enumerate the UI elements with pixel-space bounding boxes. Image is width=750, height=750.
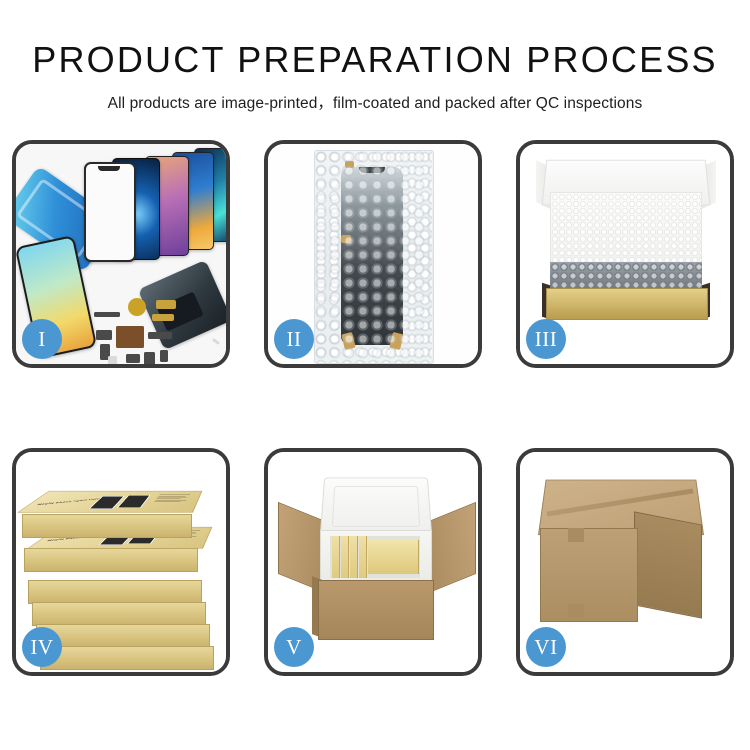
styrofoam-lid-icon (320, 477, 432, 536)
product-preparation-process-page: PRODUCT PREPARATION PROCESS All products… (0, 0, 750, 750)
retail-box-spec-lines-1 (154, 495, 192, 503)
packed-box-2 (341, 536, 349, 578)
part-sim-tray-icon (108, 356, 117, 364)
page-header: PRODUCT PREPARATION PROCESS All products… (0, 0, 750, 113)
step-panel-5: V (264, 448, 482, 676)
packed-box-3 (350, 536, 358, 578)
retail-box-layer-4 (36, 624, 210, 648)
adhesive-tab-top-icon (345, 161, 354, 168)
step-panel-1: I (12, 140, 230, 368)
page-title: PRODUCT PREPARATION PROCESS (0, 0, 750, 78)
retail-box-layer-6 (28, 580, 202, 604)
step-badge-6: VI (526, 627, 566, 667)
part-flex-cable-2-icon (152, 314, 174, 321)
retail-box-layer-2-body (24, 548, 198, 572)
part-ribbon-icon (148, 332, 172, 339)
foam-sheet-icon (550, 192, 702, 266)
packed-box-4 (359, 536, 367, 578)
step-badge-2: II (274, 319, 314, 359)
adhesive-tab-mid-icon (341, 235, 351, 243)
screen-glass-panel-icon (84, 162, 136, 262)
step-badge-5: V (274, 627, 314, 667)
flex-connector-right-icon (389, 332, 404, 350)
retail-box-layer-5 (32, 602, 206, 626)
step-badge-1: I (22, 319, 62, 359)
wrapped-screen-icon (341, 167, 403, 345)
step-panel-6: VI (516, 448, 734, 676)
part-camera-module-icon (96, 330, 112, 340)
carton-front-face-icon (540, 528, 638, 622)
styrofoam-cavity-icon (330, 536, 420, 578)
step-badge-4: IV (22, 627, 62, 667)
part-logic-board-icon (116, 326, 144, 348)
retail-box-layer-1-top: Mobile Phone Spare Parts (17, 491, 202, 513)
carton-tape-top-icon (568, 528, 584, 542)
carton-body-icon (318, 580, 434, 640)
retail-box-layer-1-body (22, 514, 192, 538)
step-badge-3: III (526, 319, 566, 359)
part-button-icon (126, 354, 140, 363)
carton-tape-bottom-icon (568, 604, 584, 618)
part-speaker-icon (94, 312, 120, 317)
part-flex-cable-icon (156, 300, 176, 309)
kraft-box-front-icon (546, 288, 708, 320)
bubble-wrap-bag-icon (314, 150, 434, 364)
step-panel-3: III (516, 140, 734, 368)
part-screw-set-icon (160, 350, 168, 362)
carton-side-face-icon (634, 511, 702, 618)
step-panel-2: II (264, 140, 482, 368)
page-subtitle: All products are image-printed，film-coat… (0, 78, 750, 113)
packed-box-group-right (368, 540, 419, 574)
retail-box-layer-3 (40, 646, 214, 670)
part-mic-icon (144, 352, 155, 364)
process-steps-grid: I II (12, 140, 742, 676)
part-tweezers-icon (212, 338, 220, 345)
part-vibrator-icon (128, 298, 146, 316)
step-panel-4: Mobile Phone Spare Parts (12, 448, 230, 676)
packed-box-1 (332, 536, 340, 578)
